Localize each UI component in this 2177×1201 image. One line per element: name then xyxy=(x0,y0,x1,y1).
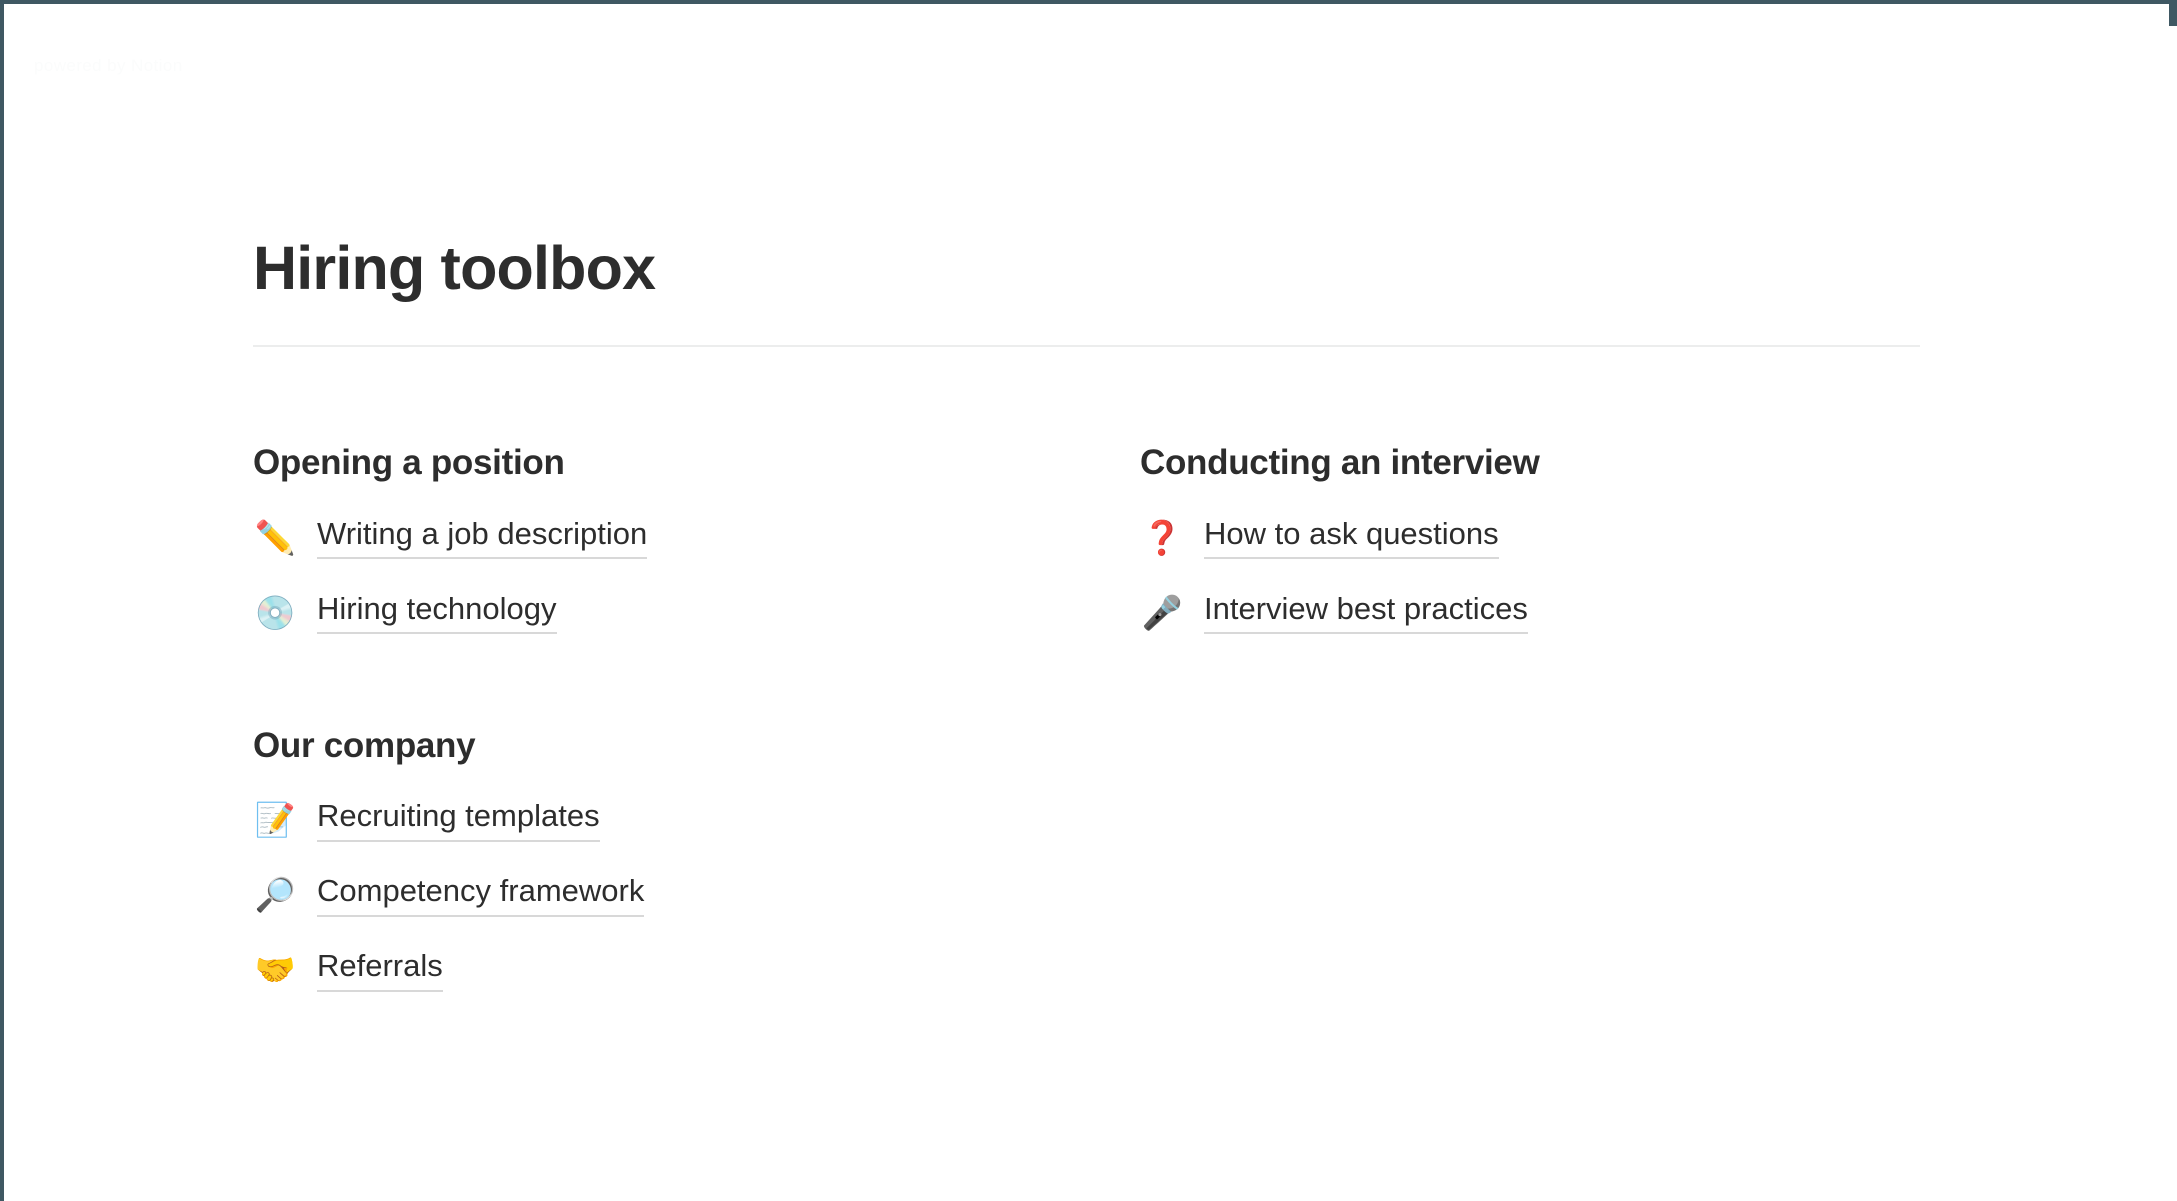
section-heading: Opening a position xyxy=(253,440,1140,486)
link-interview-best-practices[interactable]: Interview best practices xyxy=(1204,590,1528,635)
link-hiring-technology[interactable]: Hiring technology xyxy=(317,590,557,635)
section-opening-a-position: Opening a position ✏️ Writing a job desc… xyxy=(253,440,1140,650)
handshake-icon: 🤝 xyxy=(253,953,297,986)
magnifying-glass-icon: 🔎 xyxy=(253,878,297,911)
list-item[interactable]: 🤝 Referrals xyxy=(253,932,1140,1007)
list-item[interactable]: ❓ How to ask questions xyxy=(1140,500,2027,575)
section-conducting-an-interview: Conducting an interview ❓ How to ask que… xyxy=(1140,440,2027,650)
column-container: Opening a position ✏️ Writing a job desc… xyxy=(253,440,1923,1007)
section-our-company: Our company 📝 Recruiting templates 🔎 Com… xyxy=(253,723,1140,1008)
optical-disk-icon: 💿 xyxy=(253,596,297,629)
link-referrals[interactable]: Referrals xyxy=(317,947,443,992)
list-item[interactable]: 💿 Hiring technology xyxy=(253,575,1140,650)
section-heading: Conducting an interview xyxy=(1140,440,2027,486)
link-recruiting-templates[interactable]: Recruiting templates xyxy=(317,797,600,842)
watermark-text: powered by Notion xyxy=(34,56,183,76)
column-right: Conducting an interview ❓ How to ask que… xyxy=(1140,440,2027,1007)
list-item[interactable]: ✏️ Writing a job description xyxy=(253,500,1140,575)
link-how-to-ask-questions[interactable]: How to ask questions xyxy=(1204,515,1499,560)
pencil-icon: ✏️ xyxy=(253,521,297,554)
link-competency-framework[interactable]: Competency framework xyxy=(317,872,644,917)
section-heading: Our company xyxy=(253,723,1140,769)
microphone-icon: 🎤 xyxy=(1140,596,1184,629)
list-item[interactable]: 📝 Recruiting templates xyxy=(253,782,1140,857)
list-item[interactable]: 🔎 Competency framework xyxy=(253,857,1140,932)
red-question-mark-icon: ❓ xyxy=(1140,521,1184,554)
app-window: powered by Notion Hiring toolbox Opening… xyxy=(0,0,2177,1201)
link-writing-a-job-description[interactable]: Writing a job description xyxy=(317,515,647,560)
list-item[interactable]: 🎤 Interview best practices xyxy=(1140,575,2027,650)
memo-icon: 📝 xyxy=(253,803,297,836)
window-corner-marker-cutout xyxy=(2169,26,2177,38)
column-left: Opening a position ✏️ Writing a job desc… xyxy=(253,440,1140,1007)
title-divider xyxy=(253,345,1920,347)
page-title: Hiring toolbox xyxy=(253,4,1923,300)
page-content: Hiring toolbox Opening a position ✏️ Wri… xyxy=(253,4,1923,1007)
